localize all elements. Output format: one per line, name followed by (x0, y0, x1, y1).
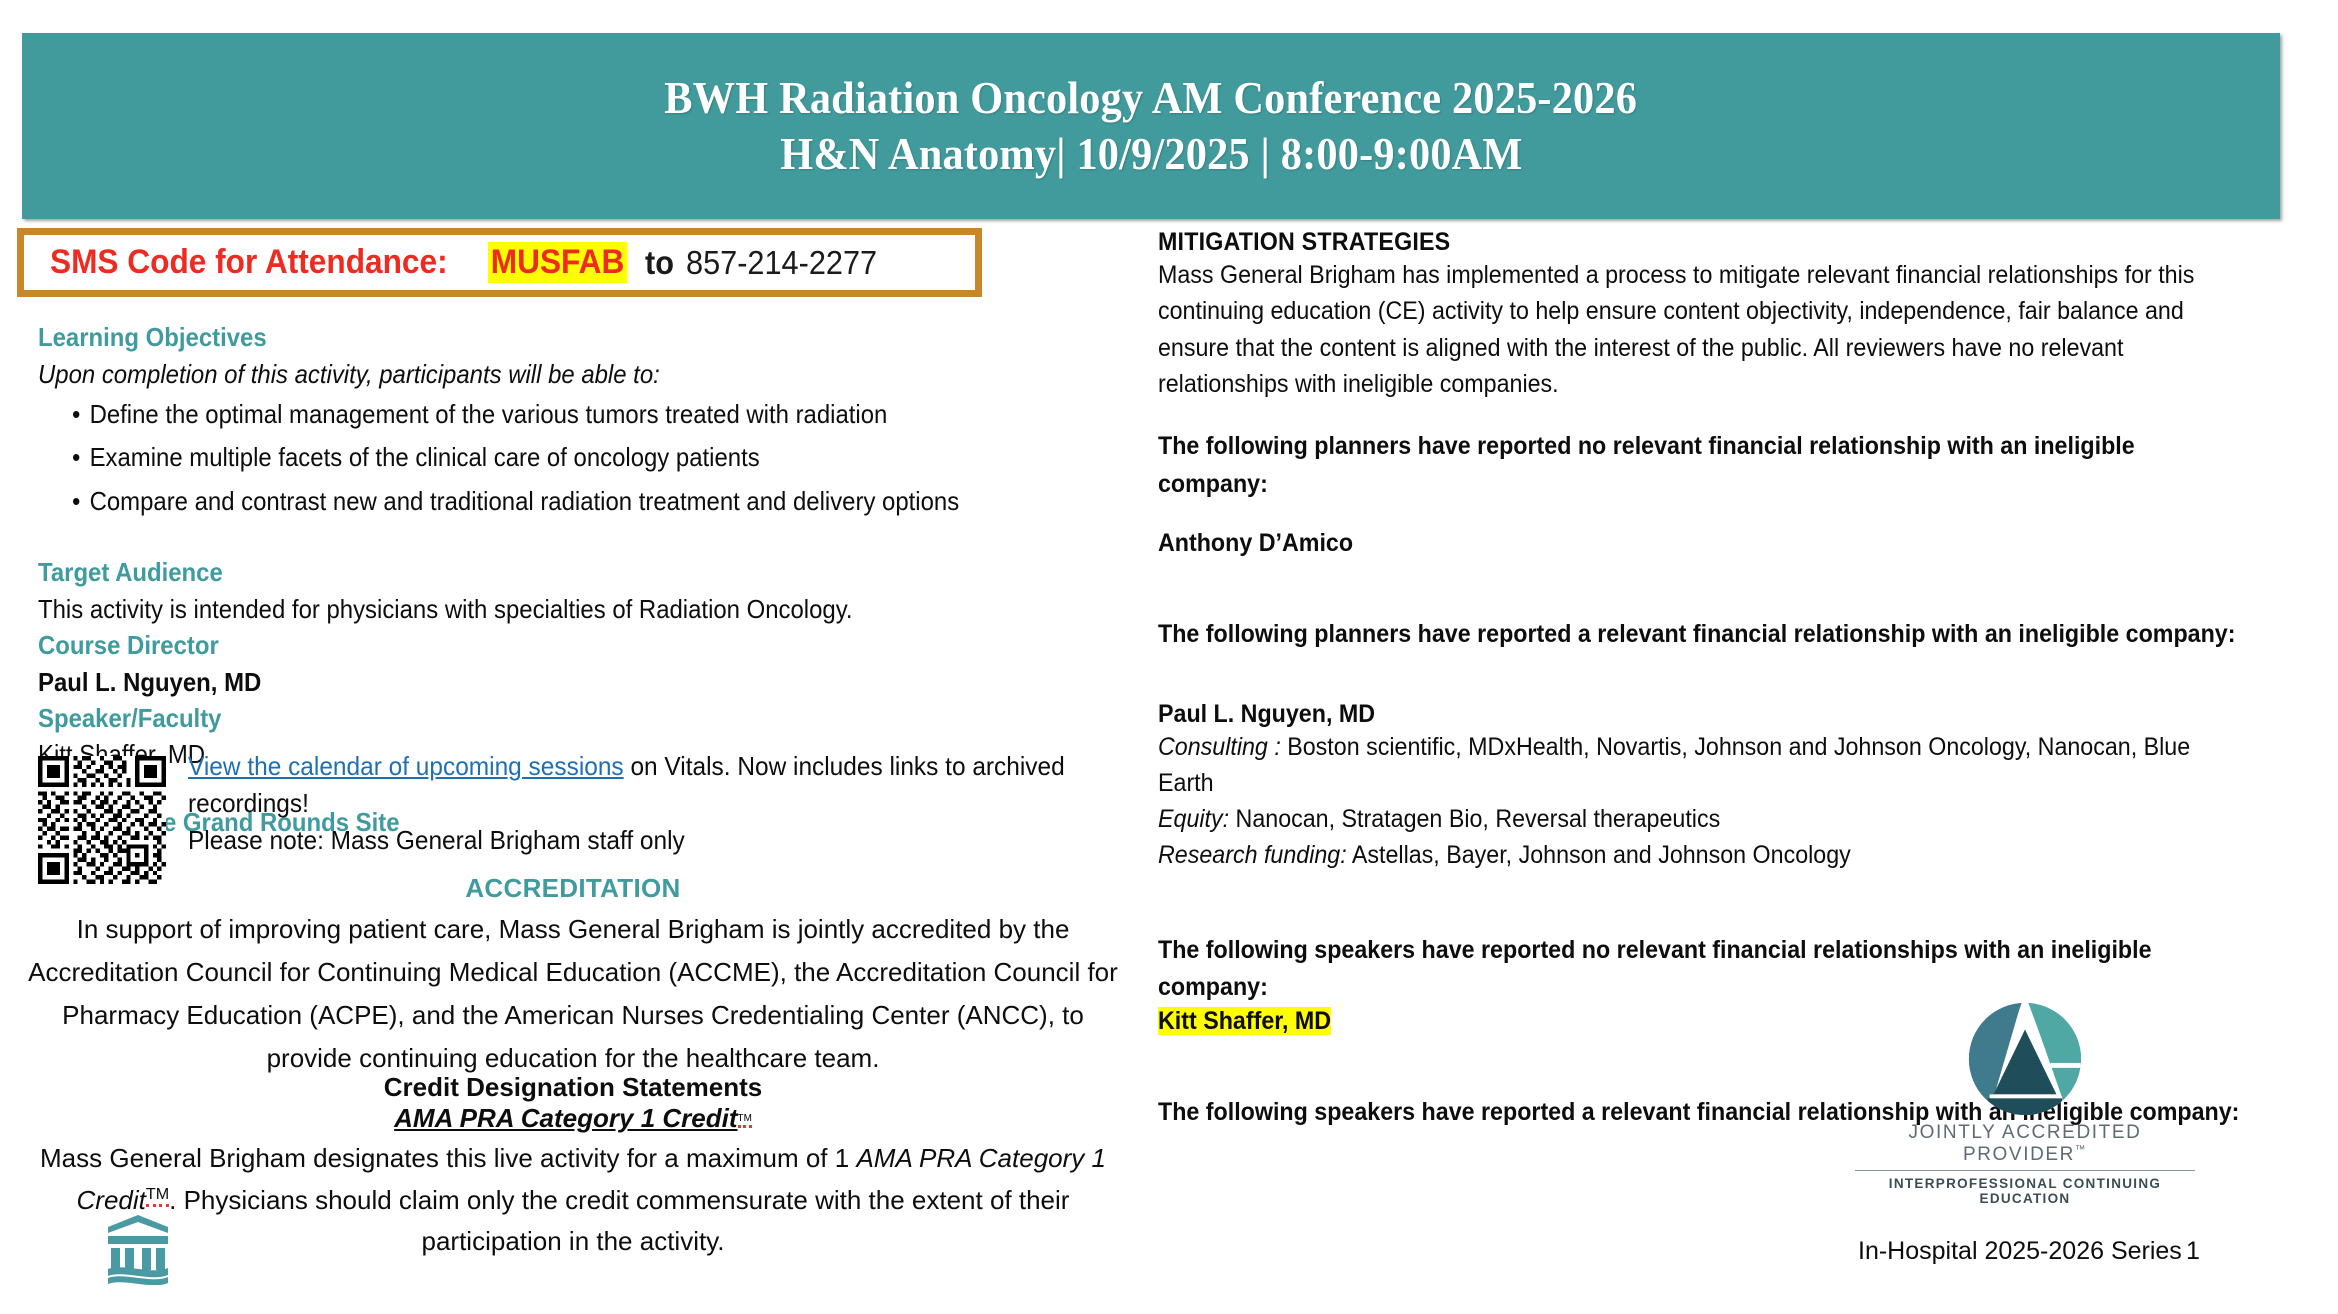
course-director-name: Paul L. Nguyen, MD (38, 664, 1045, 701)
credit-subtitle-text: AMA PRA Category 1 Credit (394, 1103, 737, 1133)
footer-series-label: In-Hospital 2025-2026 Series (1858, 1237, 2182, 1266)
jap-line-1-text: JOINTLY ACCREDITED PROVIDER (1909, 1122, 2142, 1165)
learning-objectives-list: Define the optimal management of the var… (72, 393, 1133, 523)
header-banner: BWH Radiation Oncology AM Conference 202… (22, 33, 2280, 219)
jap-line-2: INTERPROFESSIONAL CONTINUING EDUCATION (1855, 1176, 2195, 1206)
learning-objectives-intro: Upon completion of this activity, partic… (38, 356, 1045, 393)
mitigation-strategies-body: Mass General Brigham has implemented a p… (1158, 257, 2246, 402)
sms-connector: to (645, 244, 674, 282)
credit-designation-block: Credit Designation Statements AMA PRA Ca… (28, 1072, 1118, 1263)
credit-designation-subtitle: AMA PRA Category 1 CreditTM (28, 1103, 1118, 1134)
accreditation-body: In support of improving patient care, Ma… (28, 908, 1118, 1081)
planners-relationship-heading: The following planners have reported a r… (1158, 616, 2246, 654)
course-director-heading: Course Director (38, 628, 1045, 664)
credit-subtitle-trademark: TM (738, 1113, 752, 1128)
qr-code-icon[interactable] (38, 754, 166, 886)
credit-body-trademark: TM (146, 1185, 169, 1207)
credit-designation-title: Credit Designation Statements (28, 1072, 1118, 1103)
mitigation-strategies-heading: MITIGATION STRATEGIES (1158, 228, 2246, 257)
grand-rounds-description: View the calendar of upcoming sessions o… (188, 748, 1081, 859)
planner-equity-value: Nanocan, Stratagen Bio, Reversal therape… (1229, 805, 1720, 833)
target-audience-heading: Target Audience (38, 555, 1045, 591)
planner-consulting-row: Consulting : Boston scientific, MDxHealt… (1158, 729, 2246, 802)
target-audience-text: This activity is intended for physicians… (38, 591, 1045, 628)
jap-mark-icon (1966, 1000, 2084, 1118)
sms-label: SMS Code for Attendance: (50, 243, 448, 282)
credit-designation-body: Mass General Brigham designates this liv… (28, 1138, 1118, 1263)
list-item: Compare and contrast new and traditional… (72, 480, 1048, 523)
calendar-link[interactable]: View the calendar of upcoming sessions (188, 751, 624, 781)
list-item: Define the optimal management of the var… (72, 393, 1048, 436)
sms-phone-number: 857-214-2277 (686, 244, 877, 282)
learning-objectives-heading: Learning Objectives (38, 320, 1045, 356)
credit-body-part-2: . Physicians should claim only the credi… (169, 1185, 1069, 1257)
planner-disclosure-name: Paul L. Nguyen, MD (1158, 700, 2246, 729)
speakers-no-relationship-heading: The following speakers have reported no … (1158, 932, 2246, 1007)
grand-rounds-note: Please note: Mass General Brigham staff … (188, 825, 685, 855)
planner-research-label: Research funding: (1158, 841, 1347, 869)
sms-attendance-box: SMS Code for Attendance: MUSFAB to 857-2… (17, 228, 982, 297)
sms-code-value: MUSFAB (488, 242, 627, 283)
credit-body-part-1: Mass General Brigham designates this liv… (40, 1143, 856, 1173)
accreditation-block: ACCREDITATION In support of improving pa… (28, 873, 1118, 1081)
speaker-faculty-heading: Speaker/Faculty (38, 701, 1045, 737)
slide-canvas: BWH Radiation Oncology AM Conference 202… (0, 0, 2338, 1314)
planner-equity-row: Equity: Nanocan, Stratagen Bio, Reversal… (1158, 801, 2246, 837)
jointly-accredited-provider-logo: JOINTLY ACCREDITED PROVIDER™ INTERPROFES… (1855, 1000, 2195, 1206)
planner-consulting-value: Boston scientific, MDxHealth, Novartis, … (1158, 733, 2190, 797)
speaker-name-highlighted: Kitt Shaffer, MD (1158, 1007, 1331, 1035)
planner-research-row: Research funding: Astellas, Bayer, Johns… (1158, 837, 2246, 873)
right-column: MITIGATION STRATEGIES Mass General Brigh… (1158, 228, 2328, 1131)
header-title-line-1: BWH Radiation Oncology AM Conference 202… (665, 70, 1638, 126)
planner-research-value: Astellas, Bayer, Johnson and Johnson Onc… (1347, 841, 1851, 869)
jap-trademark: ™ (2075, 1145, 2087, 1156)
planner-consulting-label: Consulting : (1158, 733, 1281, 761)
planners-no-relationship-heading: The following planners have reported no … (1158, 428, 2246, 503)
planner-equity-label: Equity: (1158, 805, 1229, 833)
planners-no-relationship-names: Anthony D’Amico (1158, 529, 2246, 558)
mass-general-brigham-logo-icon (104, 1213, 172, 1285)
list-item: Examine multiple facets of the clinical … (72, 436, 1048, 479)
jap-line-1: JOINTLY ACCREDITED PROVIDER™ (1855, 1122, 2195, 1171)
footer-page-number: 1 (2186, 1237, 2200, 1266)
header-title-line-2: H&N Anatomy| 10/9/2025 | 8:00-9:00AM (780, 126, 1522, 182)
accreditation-title: ACCREDITATION (28, 873, 1118, 904)
grand-rounds-qr-row: View the calendar of upcoming sessions o… (38, 748, 1138, 886)
